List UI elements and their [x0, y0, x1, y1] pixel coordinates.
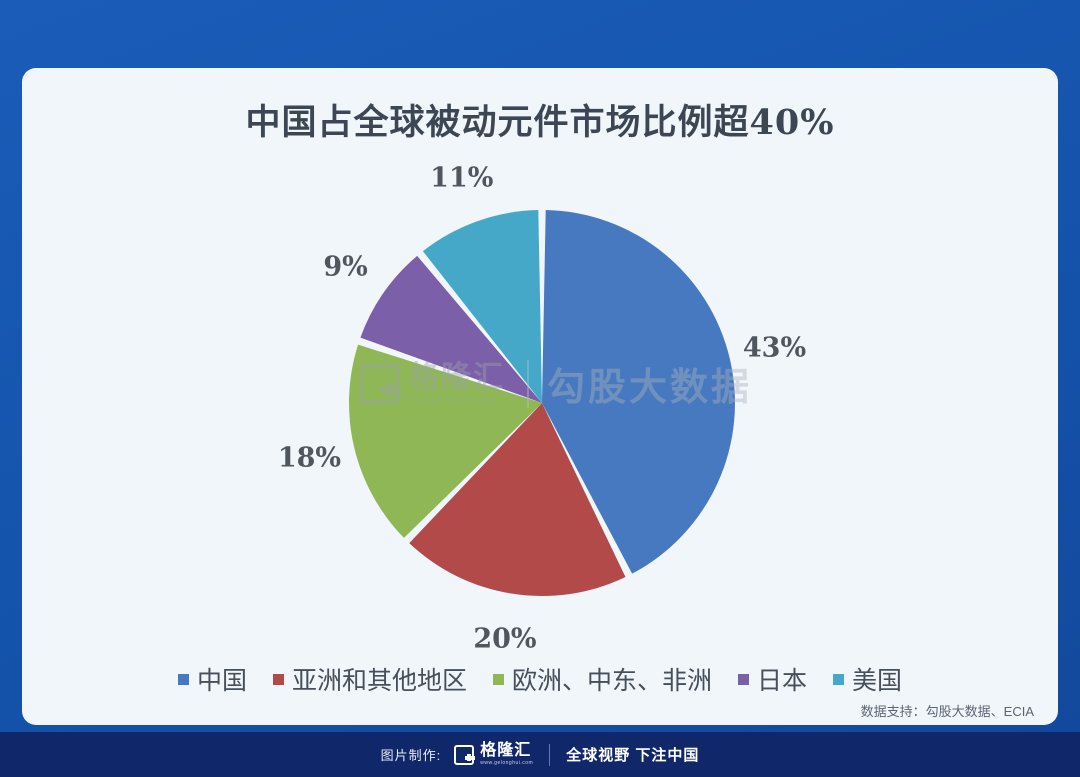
legend-label: 美国 — [852, 661, 902, 697]
legend-swatch-icon — [493, 674, 504, 685]
pie-slice-label: 18% — [278, 443, 341, 474]
footer-bar: 图片制作: 格隆汇 www.gelonghui.com 全球视野 下注中国 — [0, 732, 1080, 777]
legend-label: 中国 — [197, 661, 247, 697]
source-note: 数据支持：勾股大数据、ECIA — [861, 701, 1034, 720]
legend-label: 日本 — [757, 661, 807, 697]
footer-brand-name: 格隆汇 — [480, 743, 533, 759]
pie-slice-label: 11% — [430, 162, 493, 193]
footer-divider — [549, 744, 550, 766]
legend-label: 欧洲、中东、非洲 — [512, 661, 712, 697]
chart-card: 中国占全球被动元件市场比例超40% 43%20%18%9%11% 格隆汇 www… — [22, 68, 1058, 725]
chart-legend: 中国亚洲和其他地区欧洲、中东、非洲日本美国 — [22, 661, 1058, 697]
pie-svg — [332, 193, 752, 613]
legend-swatch-icon — [273, 674, 284, 685]
footer-brand: 格隆汇 www.gelonghui.com — [480, 743, 533, 766]
pie-chart: 43%20%18%9%11% — [22, 68, 1058, 725]
footer-credit-label: 图片制作: — [381, 745, 442, 764]
legend-swatch-icon — [833, 674, 844, 685]
gelonghui-logo-icon — [454, 745, 474, 765]
legend-item[interactable]: 美国 — [833, 661, 902, 697]
legend-label: 亚洲和其他地区 — [292, 661, 467, 697]
legend-swatch-icon — [738, 674, 749, 685]
legend-item[interactable]: 中国 — [178, 661, 247, 697]
footer-slogan: 全球视野 下注中国 — [566, 744, 699, 765]
legend-item[interactable]: 日本 — [738, 661, 807, 697]
footer-logo: 格隆汇 www.gelonghui.com — [454, 743, 533, 766]
legend-item[interactable]: 亚洲和其他地区 — [273, 661, 467, 697]
pie-slice-label: 9% — [323, 251, 367, 282]
footer-brand-url: www.gelonghui.com — [480, 761, 533, 766]
legend-swatch-icon — [178, 674, 189, 685]
legend-item[interactable]: 欧洲、中东、非洲 — [493, 661, 712, 697]
pie-slice-label: 43% — [743, 332, 806, 363]
pie-slice-label: 20% — [473, 624, 536, 655]
poster-canvas: 中国占全球被动元件市场比例超40% 43%20%18%9%11% 格隆汇 www… — [0, 0, 1080, 777]
